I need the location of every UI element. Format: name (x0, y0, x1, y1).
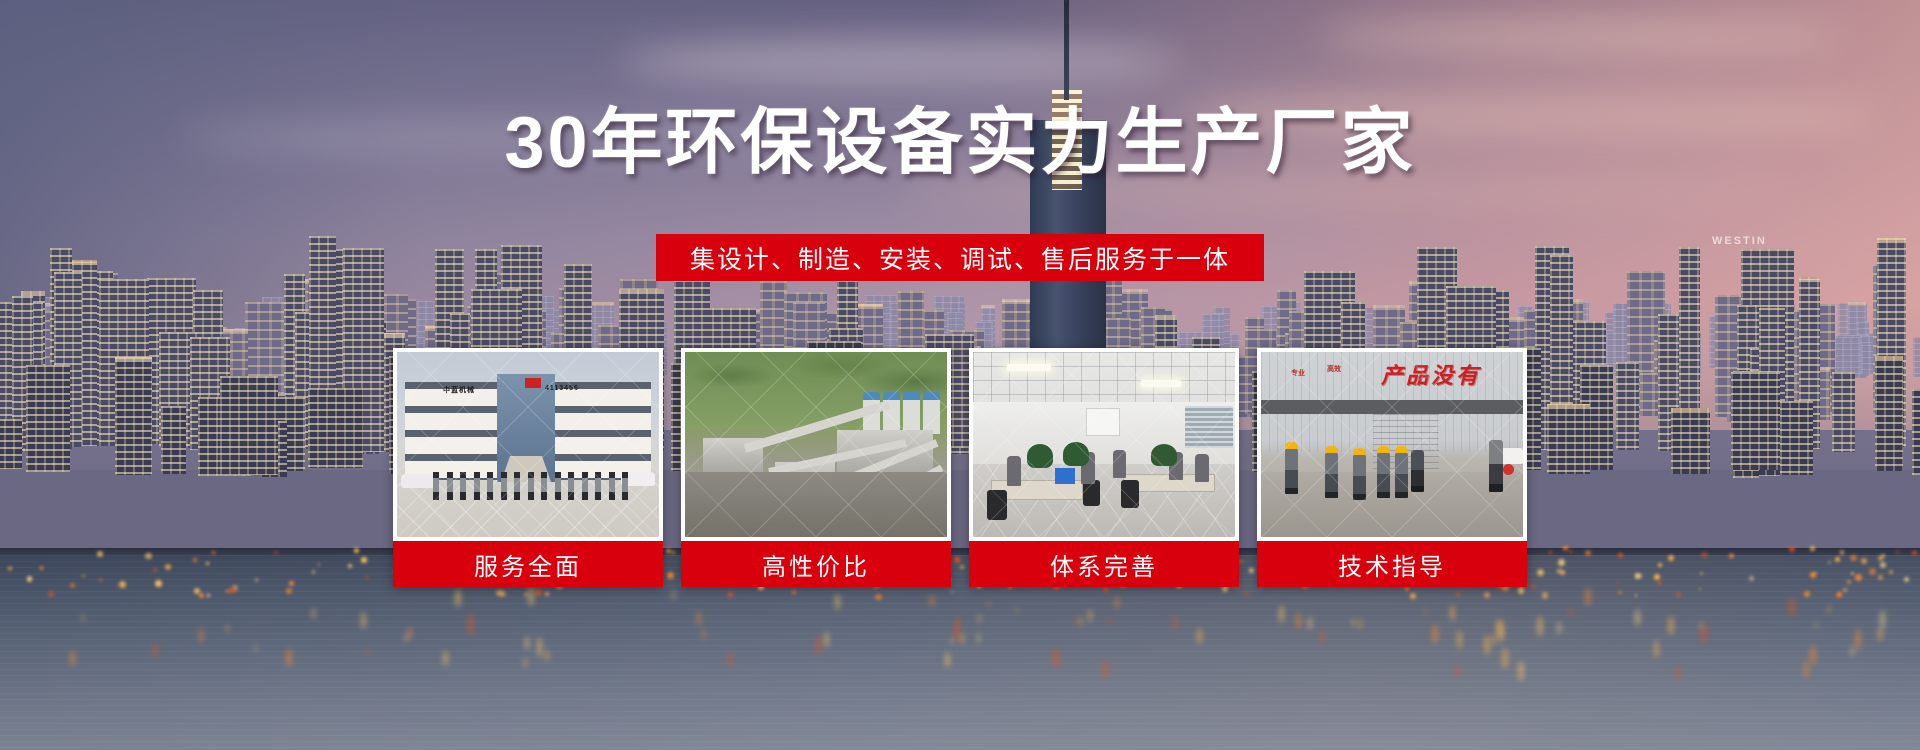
skyline-building (1832, 372, 1855, 452)
light-reflection (824, 632, 829, 647)
skyline-building (220, 376, 278, 475)
card-caption-bar: 体系完善 (969, 541, 1239, 587)
light-reflection (978, 614, 981, 623)
hero-banner: WESTIN 30年环保设备实力生产厂家 集设计、制造、安装、调试、售后服务于一… (0, 0, 1920, 750)
red-hard-hat (1503, 464, 1514, 475)
light-reflection (1108, 617, 1110, 624)
light-reflection (960, 633, 963, 644)
skyline-building (1912, 389, 1920, 475)
worker (1285, 448, 1298, 494)
shore-light (207, 594, 210, 597)
light-reflection (1654, 640, 1659, 658)
staff-member (460, 472, 466, 500)
shore-light (1676, 592, 1681, 597)
factory-side-slogan: 高效 (1327, 364, 1341, 374)
light-reflection (70, 651, 75, 666)
light-reflection (1635, 609, 1640, 625)
light-reflection (1279, 605, 1284, 623)
shore-light (1889, 570, 1893, 574)
phone-number-sign: 4113456 (545, 385, 579, 392)
desk-item (1055, 468, 1075, 484)
shore-light (1869, 568, 1876, 575)
light-reflection (1585, 588, 1591, 607)
shore-light (274, 551, 278, 555)
light-reflection (945, 652, 950, 668)
card-caption-label: 服务全面 (474, 547, 582, 582)
light-reflection (312, 608, 315, 619)
light-reflection (1088, 609, 1092, 622)
national-flag (525, 378, 541, 388)
staff-member (474, 472, 480, 500)
shore-light (255, 579, 258, 582)
light-reflection (1880, 610, 1885, 628)
light-reflection (1456, 665, 1460, 678)
office-ceiling (973, 352, 1235, 402)
skyline-building (26, 365, 70, 472)
feature-card-value[interactable]: 高性价比 (681, 348, 951, 587)
shore-light (145, 553, 151, 559)
light-reflection (1878, 627, 1882, 642)
light-reflection (1492, 634, 1495, 645)
skyline-building (1875, 356, 1903, 471)
shore-light (1828, 561, 1831, 564)
skyline-building (115, 357, 152, 475)
staff-member (447, 472, 453, 500)
subtitle-banner: 集设计、制造、安装、调试、售后服务于一体 (656, 234, 1264, 281)
shore-light (348, 564, 352, 568)
skyline-building (0, 419, 22, 469)
light-reflection (226, 625, 228, 632)
hard-hat (1395, 446, 1408, 453)
potted-plant (1151, 444, 1177, 466)
supervisor (1489, 440, 1503, 492)
company-office-building-photo: 中蓝机械 4113456 (397, 352, 659, 537)
staff-member (582, 472, 588, 500)
card-caption-label: 高性价比 (762, 547, 870, 582)
light-reflection (361, 612, 366, 630)
light-reflection (1075, 617, 1077, 624)
shore-light (875, 594, 881, 600)
subtitle-text: 集设计、制造、安装、调试、售后服务于一体 (690, 240, 1230, 276)
staff-member (622, 472, 628, 500)
light-reflection (455, 589, 460, 607)
staff-member (487, 472, 493, 500)
shore-light (199, 593, 204, 598)
office-chair (1121, 480, 1139, 508)
factory-workers-photo: 产品没有 专业 高效 (1261, 352, 1523, 537)
ceiling-light (1141, 380, 1181, 387)
window-blinds (1185, 406, 1233, 448)
shore-light (1245, 592, 1248, 595)
plant-yard (685, 472, 947, 537)
staff-member (514, 472, 520, 500)
skyline-building (1780, 401, 1813, 475)
worker (1353, 454, 1366, 500)
wall-logo-decal (1086, 408, 1120, 436)
light-reflection (1668, 616, 1674, 635)
ceiling-light (1007, 364, 1051, 371)
card-caption-label: 体系完善 (1050, 547, 1158, 582)
company-name-sign: 中蓝机械 (443, 385, 475, 395)
light-reflection (1352, 619, 1354, 627)
shore-light (354, 548, 358, 552)
storage-silo (923, 392, 940, 434)
seated-employee (1195, 454, 1209, 482)
skyline-building (1731, 372, 1780, 470)
light-reflection (528, 586, 534, 606)
light-reflection (1815, 622, 1817, 628)
skyline-building (308, 388, 363, 468)
skyline-building (1913, 337, 1920, 377)
shore-light (165, 564, 171, 570)
feature-card-system[interactable]: 体系完善 (969, 348, 1239, 587)
shore-light (119, 581, 126, 588)
staff-member (501, 472, 507, 500)
staff-member (568, 472, 574, 500)
light-reflection (1197, 628, 1202, 643)
skyline-building (1547, 404, 1590, 474)
hard-hat (1377, 446, 1390, 453)
light-reflection (1502, 648, 1508, 669)
light-reflection (1810, 645, 1816, 665)
shore-light (1912, 551, 1917, 556)
light-reflection (1320, 630, 1324, 643)
staff-member (595, 472, 601, 500)
card-caption-bar: 高性价比 (681, 541, 951, 587)
shore-light (1585, 550, 1591, 556)
skyline-building (1671, 408, 1710, 474)
staff-member (555, 472, 561, 500)
light-reflection (286, 649, 292, 667)
card-caption-bar: 服务全面 (393, 541, 663, 587)
worker (1325, 452, 1338, 498)
light-reflection (1518, 661, 1524, 681)
page-title: 30年环保设备实力生产厂家 (0, 107, 1920, 179)
shore-light (496, 590, 503, 597)
light-reflection (153, 643, 157, 657)
shore-light (1616, 582, 1618, 584)
light-reflection (672, 591, 675, 601)
light-reflection (1789, 598, 1794, 616)
light-reflection (199, 628, 203, 643)
worker (1411, 450, 1424, 492)
shore-light (1405, 587, 1409, 591)
light-reflection (443, 651, 447, 666)
worker (1377, 452, 1390, 498)
shore-light (1700, 572, 1703, 575)
shore-light (1701, 552, 1707, 558)
shore-light (728, 592, 733, 597)
light-reflection (1484, 635, 1490, 655)
seated-employee (1113, 450, 1126, 478)
card-caption-bar: 技术指导 (1257, 541, 1527, 587)
shore-light (155, 580, 162, 587)
shore-light (1549, 551, 1551, 553)
shore-light (1558, 559, 1565, 566)
storage-silo (883, 392, 900, 434)
storage-silo (903, 392, 920, 434)
light-reflection (545, 650, 548, 661)
shore-light (1855, 574, 1862, 581)
light-reflection (1053, 648, 1059, 669)
feature-card-row: 中蓝机械 4113456 服务全面 (393, 348, 1527, 587)
shore-light (194, 588, 200, 594)
light-reflection (1359, 619, 1362, 628)
office-chair (987, 490, 1007, 520)
staff-member (609, 472, 615, 500)
light-reflection (1173, 616, 1177, 629)
shore-light (1542, 592, 1548, 598)
staff-member (541, 472, 547, 500)
light-reflection (1450, 605, 1455, 621)
skyline-building (161, 406, 186, 474)
shore-light (1850, 555, 1856, 561)
shore-light (1881, 554, 1885, 558)
light-reflection (951, 637, 953, 644)
light-reflection (468, 614, 474, 634)
factory-side-slogan: 专业 (1291, 368, 1305, 378)
light-reflection (954, 622, 960, 640)
light-reflection (1557, 622, 1560, 634)
factory-wall-slogan: 产品没有 (1381, 358, 1481, 390)
card-caption-label: 技术指导 (1338, 547, 1446, 582)
feature-card-guidance[interactable]: 产品没有 专业 高效 (1257, 348, 1527, 587)
light-reflection (1851, 646, 1854, 656)
light-reflection (366, 647, 368, 654)
shore-light (535, 589, 542, 596)
shore-light (1804, 591, 1810, 597)
office-interior-photo (973, 352, 1235, 537)
hard-hat (1353, 448, 1366, 455)
shore-light (792, 590, 796, 594)
shore-light (366, 576, 368, 578)
shore-light (1654, 574, 1660, 580)
worker (1395, 452, 1408, 498)
shore-light (97, 551, 103, 557)
seated-employee (1007, 456, 1021, 486)
industrial-plant-aerial-photo (685, 352, 947, 537)
potted-plant (1063, 442, 1089, 466)
light-reflection (408, 626, 412, 639)
factory-yard-ground (1261, 472, 1523, 537)
skyline-building (1616, 362, 1639, 450)
westin-sign: WESTIN (1712, 235, 1767, 247)
parked-car (401, 474, 435, 488)
potted-plant (1027, 444, 1053, 468)
shore-light (70, 583, 75, 588)
feature-card-service[interactable]: 中蓝机械 4113456 服务全面 (393, 348, 663, 587)
shore-light (1635, 573, 1640, 578)
shore-light (361, 557, 367, 563)
shore-light (40, 566, 43, 569)
hard-hat (1325, 446, 1338, 453)
tower-antenna-tip (1065, 0, 1067, 2)
hard-hat (1285, 442, 1298, 449)
shore-light (1518, 587, 1525, 594)
shore-light (99, 579, 102, 582)
factory-window-band (1261, 400, 1523, 414)
shore-light (1618, 591, 1622, 595)
shore-light (1456, 592, 1460, 596)
tower-spire (1064, 0, 1069, 100)
shore-light (206, 562, 209, 565)
staff-member (433, 472, 439, 500)
staff-member (528, 472, 534, 500)
shore-light (1847, 580, 1851, 584)
